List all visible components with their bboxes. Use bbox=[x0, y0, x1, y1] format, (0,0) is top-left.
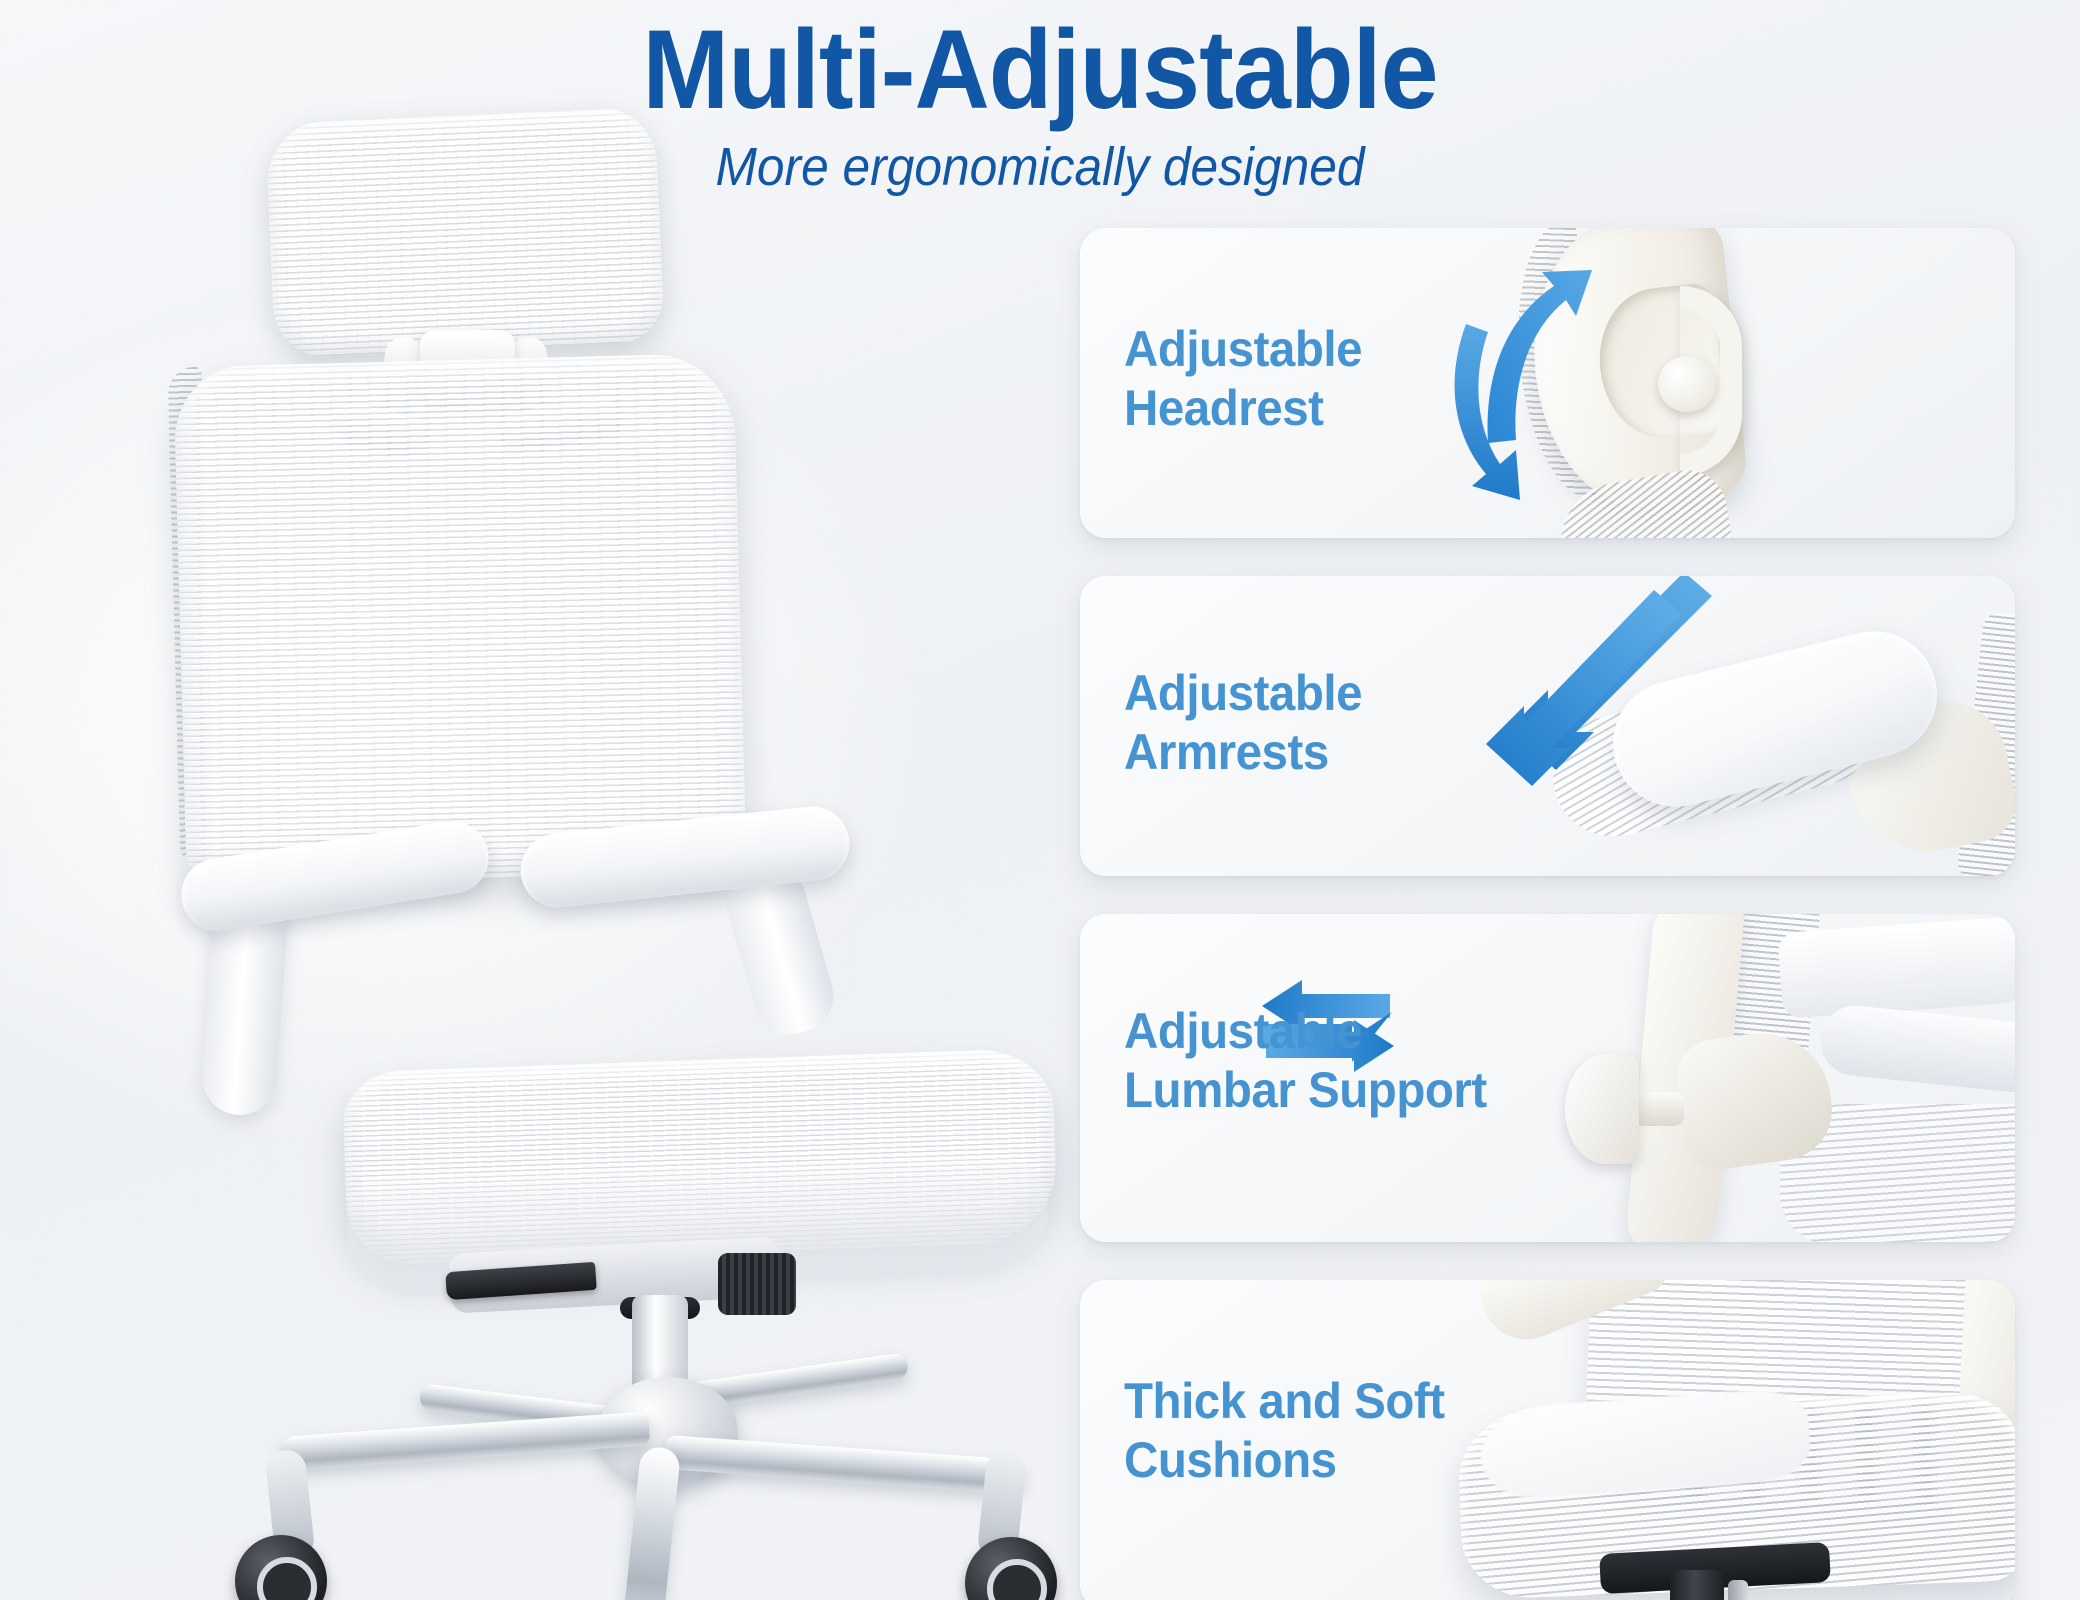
base-leg-left bbox=[279, 1411, 650, 1471]
caster-wheel-left bbox=[235, 1535, 327, 1600]
cushion-gas-lift bbox=[1670, 1570, 1724, 1600]
headrest-pivot-knuckle bbox=[1658, 356, 1716, 412]
base-leg-right bbox=[664, 1435, 1025, 1494]
lumbar-adjust-knob bbox=[1565, 1054, 1639, 1164]
card-label-cushions: Thick and Soft Cushions bbox=[1124, 1372, 1445, 1489]
feature-card-list: Adjustable Headrest Adjustable Armrests bbox=[1080, 228, 2015, 1600]
chair-backrest bbox=[173, 353, 746, 887]
hero-product-image bbox=[120, 105, 1000, 1555]
card-label-headrest: Adjustable Headrest bbox=[1124, 320, 1362, 437]
tension-knob bbox=[718, 1253, 796, 1315]
lumbar-armrest-upper bbox=[1777, 915, 2015, 1019]
feature-card-adjustable-lumbar-support[interactable]: Adjustable Lumbar Support bbox=[1080, 914, 2015, 1242]
card-label-armrests: Adjustable Armrests bbox=[1124, 664, 1362, 781]
chair-headrest bbox=[265, 107, 665, 359]
feature-card-thick-and-soft-cushions[interactable]: Thick and Soft Cushions bbox=[1080, 1280, 2015, 1600]
cushion-gas-lift-rod bbox=[1728, 1580, 1748, 1600]
card-label-lumbar: Adjustable Lumbar Support bbox=[1124, 1002, 1487, 1119]
feature-card-adjustable-armrests[interactable]: Adjustable Armrests bbox=[1080, 576, 2015, 876]
lumbar-knob-stem bbox=[1632, 1092, 1684, 1126]
feature-card-adjustable-headrest[interactable]: Adjustable Headrest bbox=[1080, 228, 2015, 538]
lumbar-armrest-lower bbox=[1817, 1002, 2015, 1096]
